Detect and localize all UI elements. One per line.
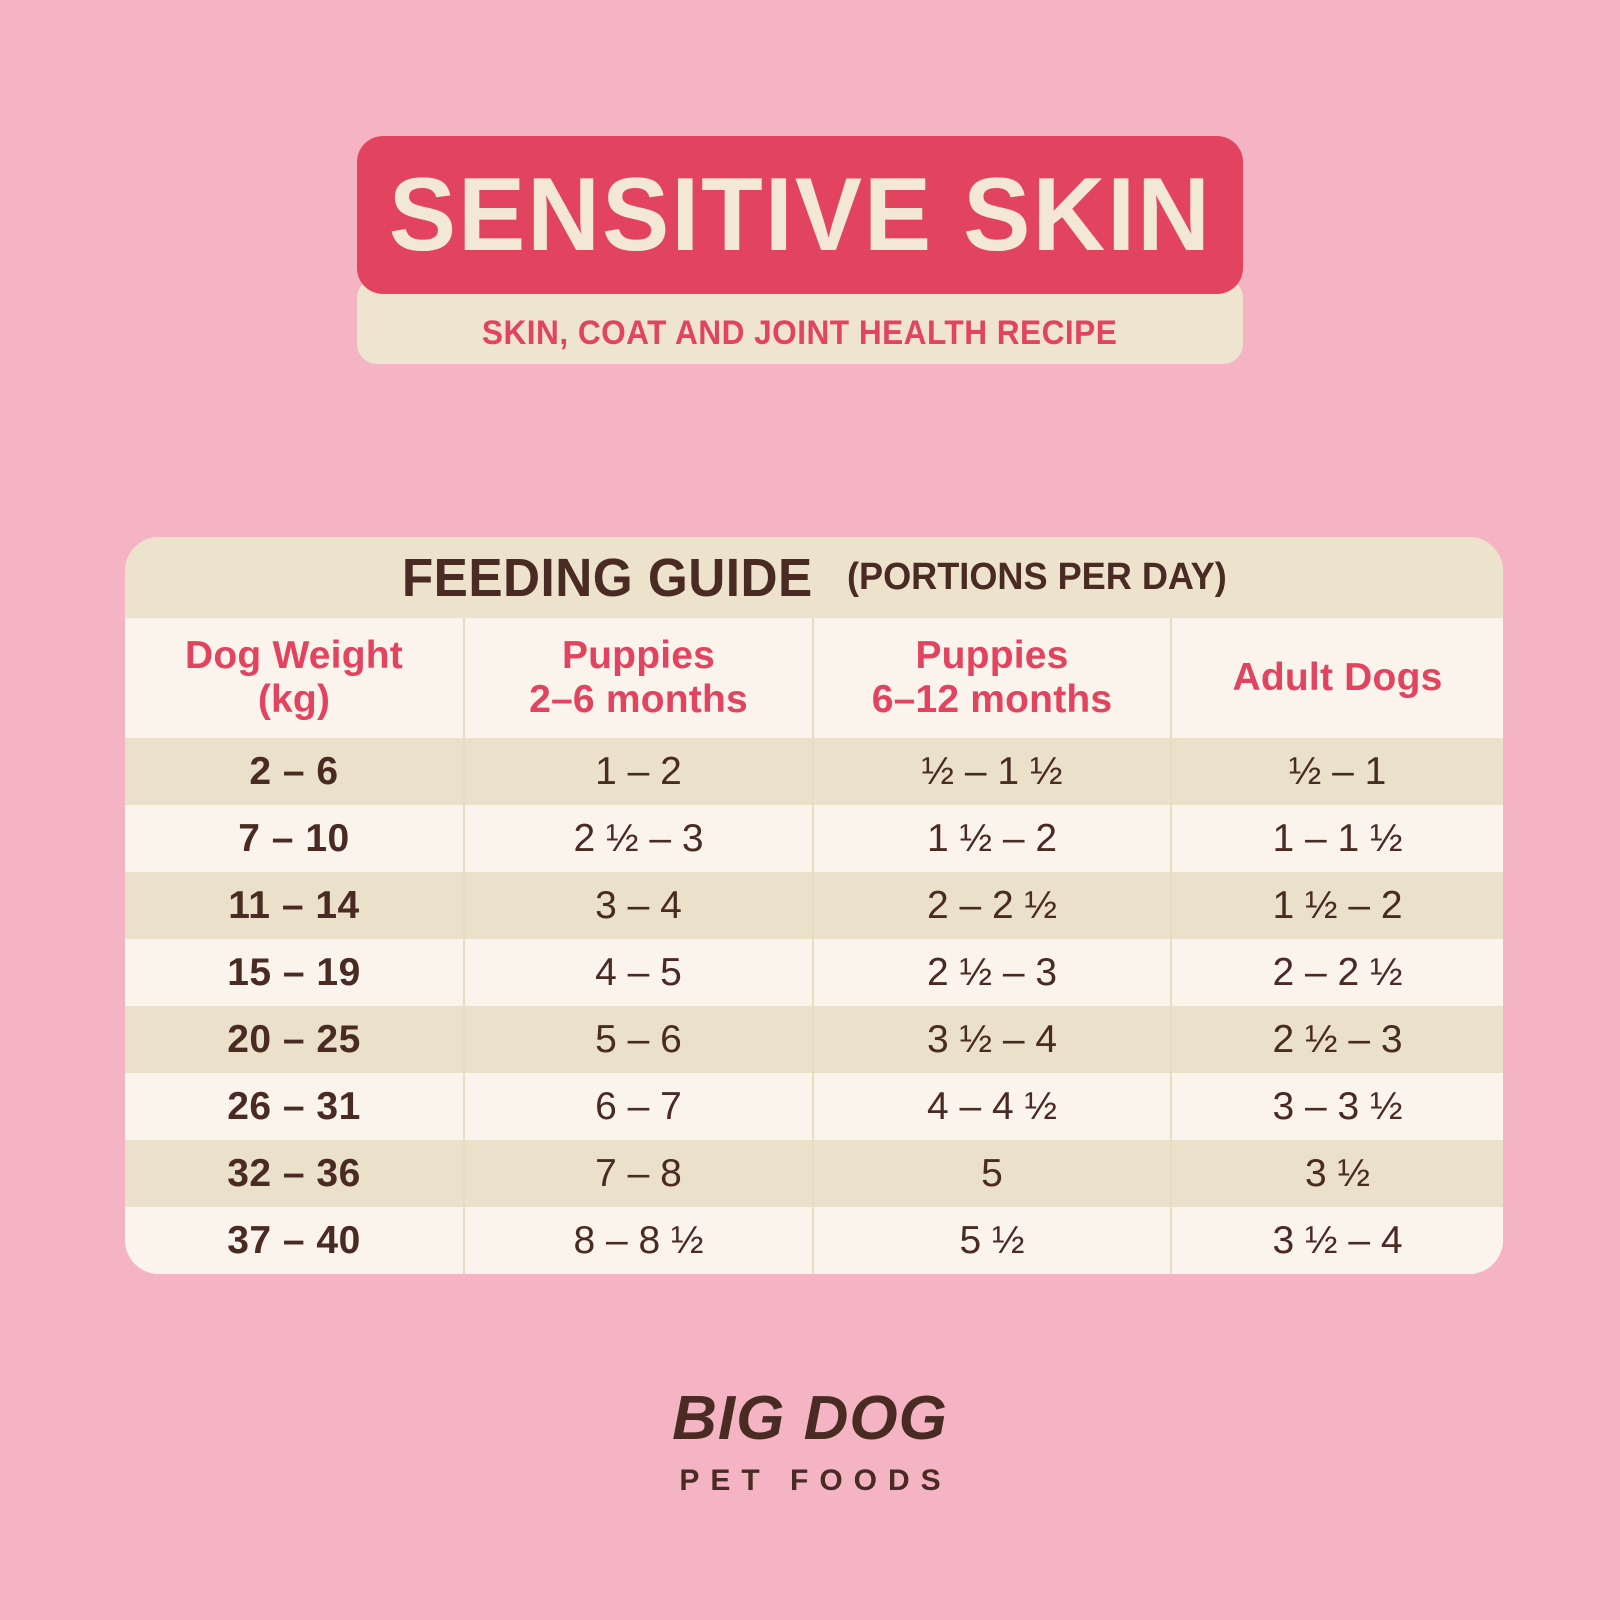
table-row: 26 – 316 – 74 – 4 ½3 – 3 ½ xyxy=(125,1073,1503,1140)
cell-adult-dogs: 3 ½ xyxy=(1170,1140,1503,1207)
cell-dog-weight: 32 – 36 xyxy=(125,1140,463,1207)
hero-banner: SENSITIVE SKIN SKIN, COAT AND JOINT HEAL… xyxy=(357,136,1243,364)
cell-puppies-6-12: 2 ½ – 3 xyxy=(812,939,1170,1006)
column-header-line: 2–6 months xyxy=(529,678,748,722)
column-header-line: Puppies xyxy=(872,634,1113,678)
cell-dog-weight: 26 – 31 xyxy=(125,1073,463,1140)
table-row: 2 – 61 – 2½ – 1 ½½ – 1 xyxy=(125,738,1503,805)
page-title: SENSITIVE SKIN xyxy=(388,163,1211,267)
column-header-line: 6–12 months xyxy=(872,678,1113,722)
cell-dog-weight: 37 – 40 xyxy=(125,1207,463,1274)
cell-dog-weight: 20 – 25 xyxy=(125,1006,463,1073)
cell-adult-dogs: 3 – 3 ½ xyxy=(1170,1073,1503,1140)
cell-dog-weight: 2 – 6 xyxy=(125,738,463,805)
cell-dog-weight: 15 – 19 xyxy=(125,939,463,1006)
column-header-puppies-6-12: Puppies 6–12 months xyxy=(812,618,1170,738)
table-row: 32 – 367 – 853 ½ xyxy=(125,1140,1503,1207)
table-row: 7 – 102 ½ – 31 ½ – 21 – 1 ½ xyxy=(125,805,1503,872)
feeding-guide-caption: FEEDING GUIDE (PORTIONS PER DAY) xyxy=(125,537,1503,618)
cell-puppies-2-6: 2 ½ – 3 xyxy=(463,805,812,872)
cell-dog-weight: 11 – 14 xyxy=(125,872,463,939)
cell-puppies-6-12: 4 – 4 ½ xyxy=(812,1073,1170,1140)
cell-puppies-6-12: ½ – 1 ½ xyxy=(812,738,1170,805)
table-row: 11 – 143 – 42 – 2 ½1 ½ – 2 xyxy=(125,872,1503,939)
cell-adult-dogs: 2 – 2 ½ xyxy=(1170,939,1503,1006)
column-header-line: (kg) xyxy=(185,678,403,722)
brand-name: BIG DOG xyxy=(0,1388,1620,1450)
feeding-guide-subtitle: (PORTIONS PER DAY) xyxy=(847,556,1227,599)
cell-puppies-2-6: 3 – 4 xyxy=(463,872,812,939)
cell-adult-dogs: 1 ½ – 2 xyxy=(1170,872,1503,939)
table-header-row: Dog Weight (kg) Puppies 2–6 months Puppi… xyxy=(125,618,1503,738)
cell-adult-dogs: 2 ½ – 3 xyxy=(1170,1006,1503,1073)
cell-adult-dogs: 1 – 1 ½ xyxy=(1170,805,1503,872)
feeding-guide-card: FEEDING GUIDE (PORTIONS PER DAY) Dog Wei… xyxy=(125,537,1503,1274)
cell-puppies-2-6: 6 – 7 xyxy=(463,1073,812,1140)
column-header-puppies-2-6: Puppies 2–6 months xyxy=(463,618,812,738)
table-body: 2 – 61 – 2½ – 1 ½½ – 17 – 102 ½ – 31 ½ –… xyxy=(125,738,1503,1274)
cell-adult-dogs: ½ – 1 xyxy=(1170,738,1503,805)
column-header-line: Adult Dogs xyxy=(1233,656,1443,700)
brand-logo: BIG DOG PET FOODS xyxy=(0,1388,1620,1496)
cell-puppies-2-6: 4 – 5 xyxy=(463,939,812,1006)
brand-tagline: PET FOODS xyxy=(0,1466,1620,1496)
cell-puppies-6-12: 2 – 2 ½ xyxy=(812,872,1170,939)
cell-puppies-6-12: 1 ½ – 2 xyxy=(812,805,1170,872)
page-subtitle: SKIN, COAT AND JOINT HEALTH RECIPE xyxy=(482,314,1117,353)
table-row: 20 – 255 – 63 ½ – 42 ½ – 3 xyxy=(125,1006,1503,1073)
cell-puppies-6-12: 5 ½ xyxy=(812,1207,1170,1274)
column-header-dog-weight: Dog Weight (kg) xyxy=(125,618,463,738)
cell-puppies-6-12: 5 xyxy=(812,1140,1170,1207)
cell-puppies-6-12: 3 ½ – 4 xyxy=(812,1006,1170,1073)
cell-adult-dogs: 3 ½ – 4 xyxy=(1170,1207,1503,1274)
feeding-guide-title: FEEDING GUIDE xyxy=(402,547,813,609)
column-header-line: Dog Weight xyxy=(185,634,403,678)
cell-puppies-2-6: 8 – 8 ½ xyxy=(463,1207,812,1274)
column-header-line: Puppies xyxy=(529,634,748,678)
cell-dog-weight: 7 – 10 xyxy=(125,805,463,872)
table-row: 15 – 194 – 52 ½ – 32 – 2 ½ xyxy=(125,939,1503,1006)
table-row: 37 – 408 – 8 ½5 ½3 ½ – 4 xyxy=(125,1207,1503,1274)
cell-puppies-2-6: 5 – 6 xyxy=(463,1006,812,1073)
product-title-band: SENSITIVE SKIN xyxy=(357,136,1243,294)
column-header-adult-dogs: Adult Dogs xyxy=(1170,618,1503,738)
cell-puppies-2-6: 7 – 8 xyxy=(463,1140,812,1207)
cell-puppies-2-6: 1 – 2 xyxy=(463,738,812,805)
